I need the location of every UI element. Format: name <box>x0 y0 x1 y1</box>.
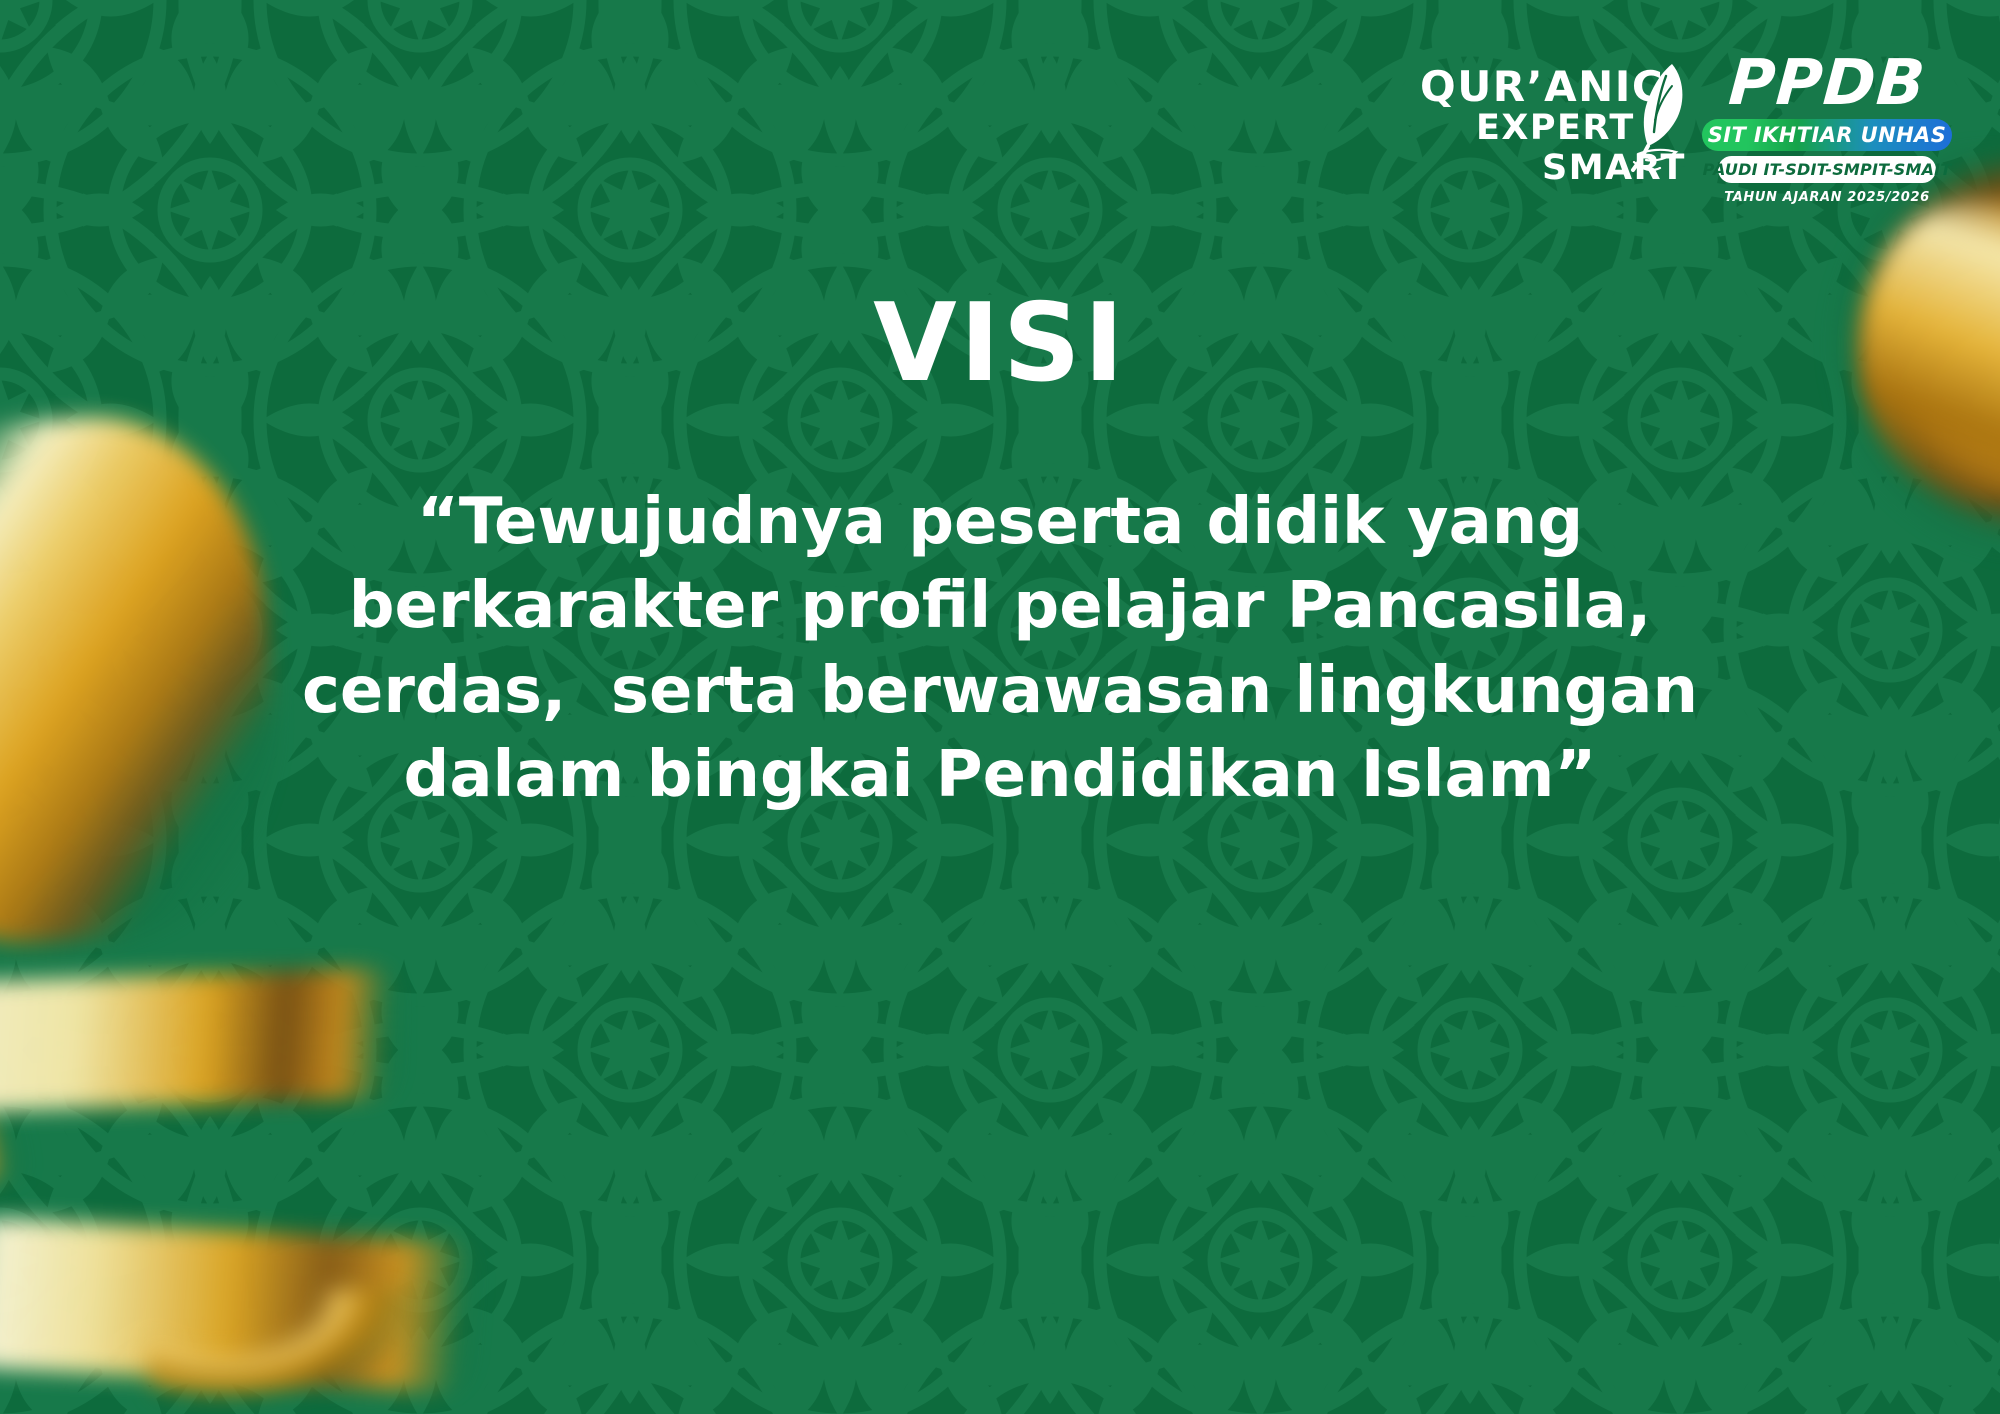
ppdb-logo: PPDB SIT IKHTIAR UNHAS PAUDI IT-SDIT-SMP… <box>1702 52 1952 205</box>
gold-ribbon-left-curve <box>0 760 330 1180</box>
feather-quill-icon <box>1614 58 1692 180</box>
vision-statement: “Tewujudnya peserta didik yang berkarakt… <box>300 480 1700 818</box>
ppdb-subtitle-text: SIT IKHTIAR UNHAS <box>1708 123 1947 147</box>
quranic-expert-smart-logo: Qur’anic Expert Smart <box>1420 52 1680 172</box>
vision-line-2: berkarakter profil pelajar Pancasila, <box>300 564 1700 648</box>
gold-ribbon-bottom-band <box>0 1216 484 1393</box>
ppdb-levels-pill: PAUDI IT-SDIT-SMPIT-SMAIT <box>1718 156 1936 183</box>
ppdb-wordmark: PPDB <box>1726 52 1927 114</box>
vision-line-3: cerdas, serta berwawasan lingkungan <box>300 649 1700 733</box>
gold-ribbon-left-band <box>0 967 402 1113</box>
vision-line-1: “Tewujudnya peserta didik yang <box>300 480 1700 564</box>
ppdb-levels-text: PAUDI IT-SDIT-SMPIT-SMAIT <box>1703 160 1952 179</box>
presentation-slide: Qur’anic Expert Smart PPDB SIT IKHTIAR U… <box>0 0 2000 1414</box>
gold-ribbon-bottom-tail <box>150 1290 510 1414</box>
ppdb-academic-year: TAHUN AJARAN 2025/2026 <box>1724 190 1930 205</box>
vision-line-4: dalam bingkai Pendidikan Islam” <box>300 733 1700 817</box>
header-logos: Qur’anic Expert Smart PPDB SIT IKHTIAR U… <box>1420 52 1952 205</box>
ppdb-subtitle-bar: SIT IKHTIAR UNHAS <box>1702 119 1952 151</box>
quranic-logo-line-expert: Expert <box>1476 108 1635 148</box>
